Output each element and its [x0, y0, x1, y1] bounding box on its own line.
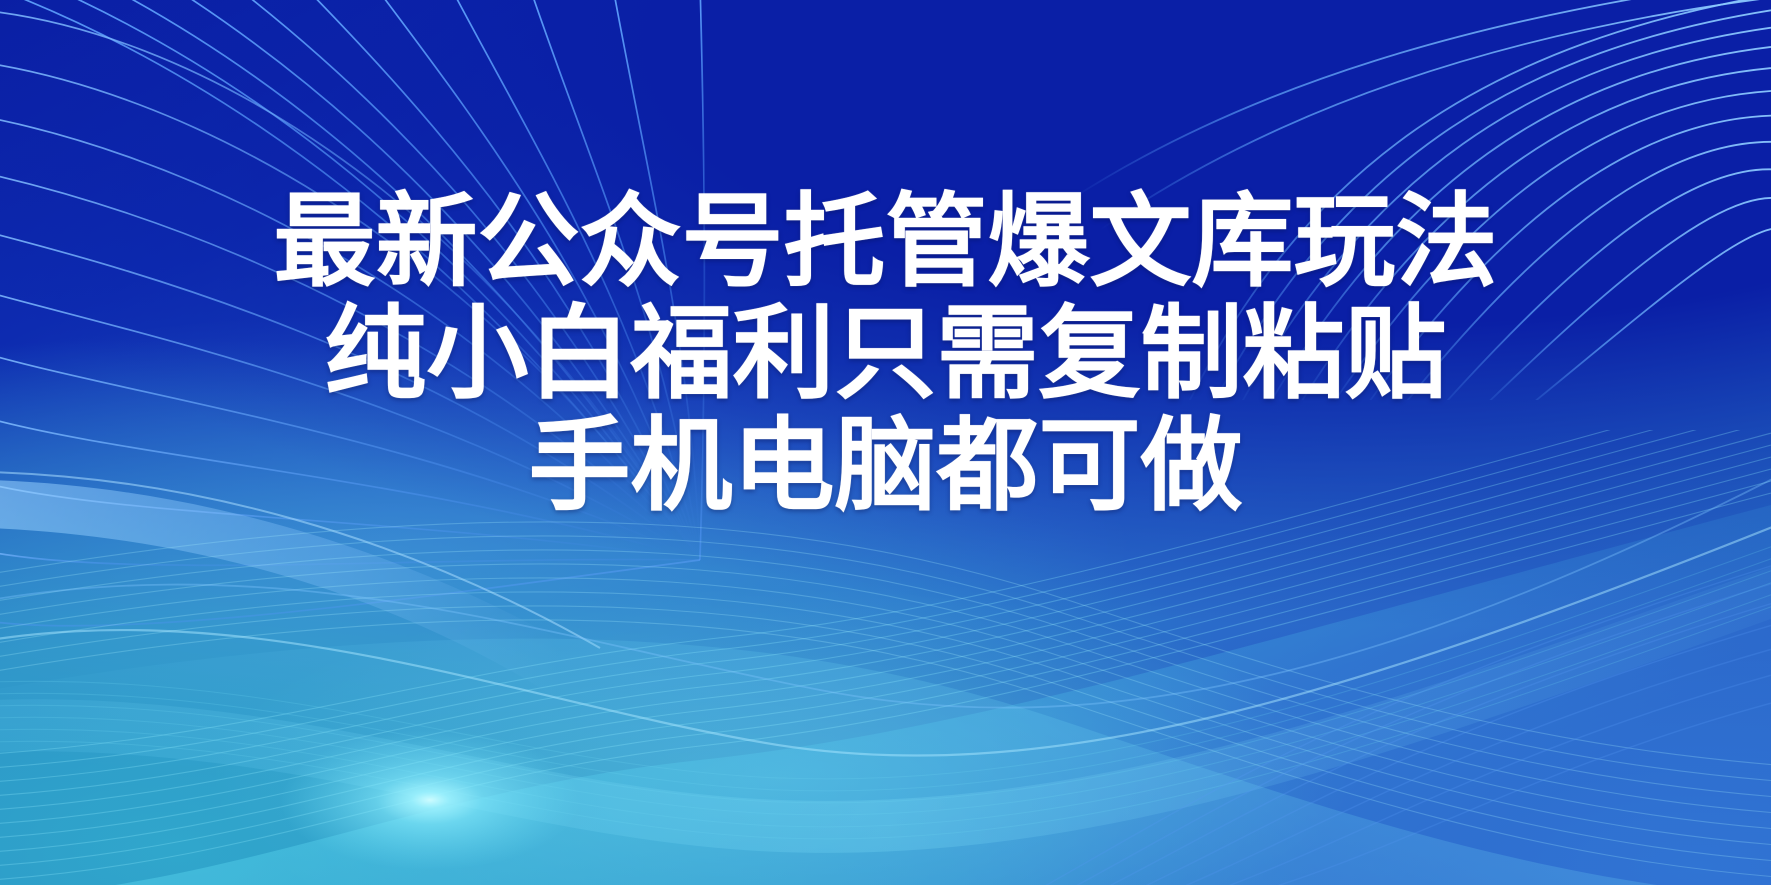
headline-block: 最新公众号托管爆文库玩法 纯小白福利只需复制粘贴 手机电脑都可做 [0, 186, 1771, 522]
headline-line-2: 纯小白福利只需复制粘贴 [0, 298, 1771, 410]
headline-line-1: 最新公众号托管爆文库玩法 [0, 186, 1771, 298]
headline-line-3: 手机电脑都可做 [0, 410, 1771, 522]
promo-banner: 最新公众号托管爆文库玩法 纯小白福利只需复制粘贴 手机电脑都可做 [0, 0, 1771, 885]
